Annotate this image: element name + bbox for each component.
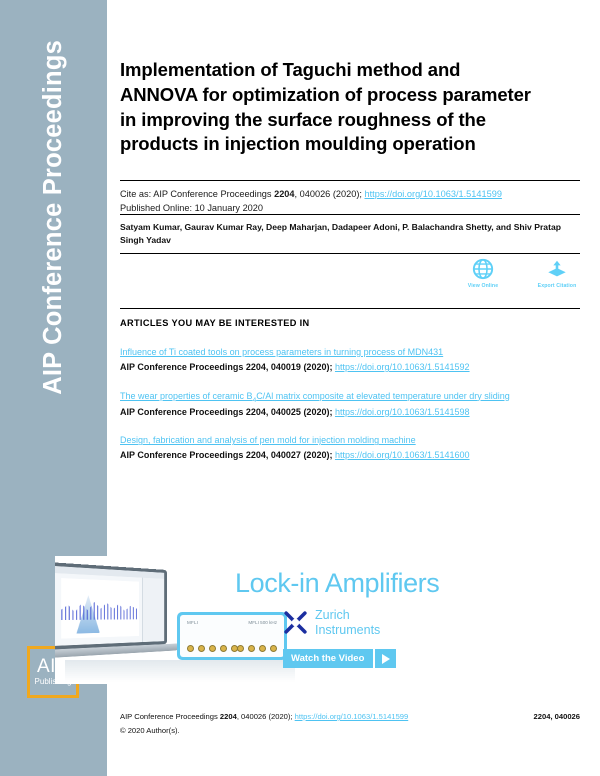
related-article-citation: AIP Conference Proceedings 2204, 040025 …	[120, 406, 575, 420]
related-article-title[interactable]: Influence of Ti coated tools on process …	[120, 347, 443, 357]
footer-cite-volume: 2204	[220, 712, 237, 721]
page-title: Implementation of Taguchi method and ANN…	[120, 58, 540, 156]
instrument-ports-right	[237, 645, 277, 652]
play-icon[interactable]	[375, 649, 396, 668]
related-cite-article: , 040027 (2020);	[266, 450, 335, 460]
bnc-port	[248, 645, 255, 652]
zi-brand-line-1: Zurich	[315, 608, 380, 623]
footer-reference: 2204, 040026	[534, 710, 580, 724]
view-online-label: View Online	[468, 283, 498, 289]
citation-block: Cite as: AIP Conference Proceedings 2204…	[120, 187, 580, 216]
laptop-screen	[55, 562, 167, 649]
export-citation-label: Export Citation	[538, 283, 577, 289]
advertisement-banner[interactable]: MFLI MFLI 500 kHz Lock-in Amplifiers	[55, 556, 460, 684]
footer-citation-row: AIP Conference Proceedings 2204, 040026 …	[120, 710, 580, 724]
related-cite-volume: 2204	[246, 362, 266, 372]
author-list: Satyam Kumar, Gaurav Kumar Ray, Deep Mah…	[120, 221, 572, 248]
bnc-port	[220, 645, 227, 652]
related-cite-doi-link[interactable]: https://doi.org/10.1063/1.5141600	[335, 450, 470, 460]
list-item: Design, fabrication and analysis of pen …	[120, 430, 575, 463]
plot-trace	[61, 594, 139, 620]
related-cite-article: , 040025 (2020);	[266, 407, 335, 417]
laptop-app-plot	[61, 578, 139, 639]
related-cite-volume: 2204	[246, 450, 266, 460]
instrument-spec-label: MFLI 500 kHz	[248, 620, 277, 625]
action-buttons: View Online Export Citation	[458, 258, 582, 289]
bnc-port	[187, 645, 194, 652]
related-article-title[interactable]: The wear properties of ceramic B4C/Al ma…	[120, 391, 510, 401]
laptop-app-sidebar	[142, 578, 164, 642]
footer-cite-prefix: AIP Conference Proceedings	[120, 712, 220, 721]
bnc-port	[198, 645, 205, 652]
related-article-citation: AIP Conference Proceedings 2204, 040027 …	[120, 449, 575, 463]
instrument-ports-left	[187, 645, 238, 652]
related-cite-doi-link[interactable]: https://doi.org/10.1063/1.5141598	[335, 407, 470, 417]
view-online-button[interactable]: View Online	[458, 258, 508, 289]
globe-icon	[472, 258, 494, 280]
bnc-port	[270, 645, 277, 652]
bnc-port	[209, 645, 216, 652]
footer-doi-link[interactable]: https://doi.org/10.1063/1.5141599	[295, 712, 409, 721]
footer-copyright: © 2020 Author(s).	[120, 724, 580, 738]
related-cite-doi-link[interactable]: https://doi.org/10.1063/1.5141592	[335, 362, 470, 372]
cite-as-line: Cite as: AIP Conference Proceedings 2204…	[120, 187, 580, 201]
related-articles-list: Influence of Ti coated tools on process …	[120, 342, 575, 474]
watch-the-video-button[interactable]: Watch the Video	[283, 649, 396, 668]
bnc-port	[237, 645, 244, 652]
instrument-illustration: MFLI MFLI 500 kHz	[177, 612, 287, 660]
footer-cite-article: , 040026 (2020);	[237, 712, 295, 721]
divider-below-citation	[120, 214, 580, 215]
related-article-title[interactable]: Design, fabrication and analysis of pen …	[120, 435, 416, 445]
zi-brand-line-2: Instruments	[315, 623, 380, 638]
related-cite-prefix: AIP Conference Proceedings	[120, 450, 246, 460]
footer-citation: AIP Conference Proceedings 2204, 040026 …	[120, 710, 408, 724]
list-item: The wear properties of ceramic B4C/Al ma…	[120, 386, 575, 420]
export-citation-button[interactable]: Export Citation	[532, 258, 582, 289]
laptop-illustration	[55, 562, 167, 664]
ad-headline: Lock-in Amplifiers	[235, 568, 439, 599]
related-articles-heading: ARTICLES YOU MAY BE INTERESTED IN	[120, 318, 310, 328]
list-item: Influence of Ti coated tools on process …	[120, 342, 575, 375]
ad-reflection	[65, 660, 295, 682]
divider-below-authors	[120, 253, 580, 254]
cite-as-article: , 040026 (2020);	[295, 189, 365, 199]
watch-video-label: Watch the Video	[283, 649, 373, 668]
related-cite-prefix: AIP Conference Proceedings	[120, 362, 246, 372]
related-title-post: C/Al matrix composite at elevated temper…	[256, 391, 510, 401]
related-article-citation: AIP Conference Proceedings 2204, 040019 …	[120, 361, 575, 375]
laptop-app-toolbar	[55, 566, 164, 579]
cite-as-volume: 2204	[274, 189, 294, 199]
related-cite-prefix: AIP Conference Proceedings	[120, 407, 246, 417]
cite-as-prefix: Cite as: AIP Conference Proceedings	[120, 189, 274, 199]
zurich-instruments-mark-icon	[283, 610, 308, 635]
zurich-instruments-wordmark: Zurich Instruments	[315, 608, 380, 638]
instrument-model-label: MFLI	[187, 620, 198, 625]
related-title-pre: The wear properties of ceramic B	[120, 391, 253, 401]
divider-above-related	[120, 308, 580, 309]
divider-above-citation	[120, 180, 580, 181]
bnc-port	[259, 645, 266, 652]
cite-as-doi-link[interactable]: https://doi.org/10.1063/1.5141599	[365, 189, 502, 199]
instrument-front-panel: MFLI MFLI 500 kHz	[180, 615, 284, 657]
export-citation-icon	[546, 258, 568, 280]
related-cite-volume: 2204	[246, 407, 266, 417]
related-cite-article: , 040019 (2020);	[266, 362, 335, 372]
zurich-instruments-logo: Zurich Instruments	[283, 608, 380, 638]
page-footer: AIP Conference Proceedings 2204, 040026 …	[120, 710, 580, 739]
